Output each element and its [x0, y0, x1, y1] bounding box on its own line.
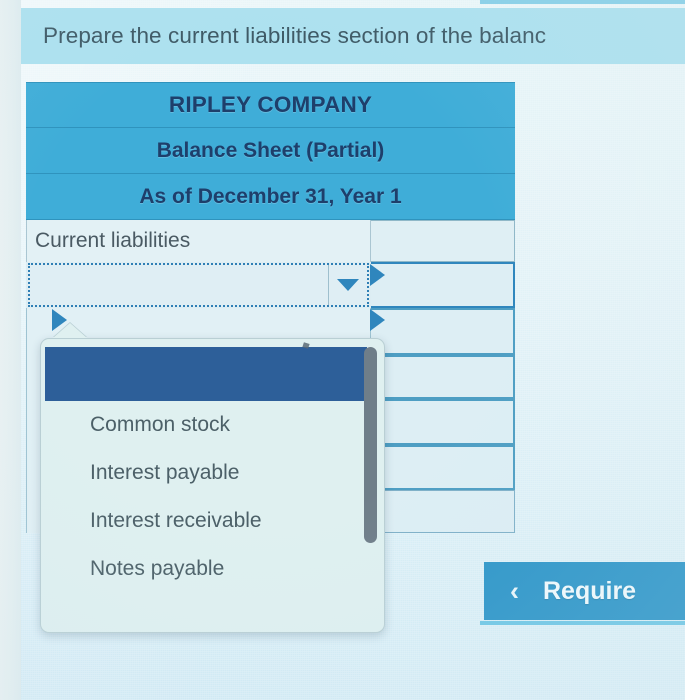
- amount-cell[interactable]: [371, 490, 515, 533]
- table-title-company-row: RIPLEY COMPANY: [26, 82, 515, 128]
- instruction-banner: Prepare the current liabilities section …: [21, 8, 685, 64]
- section-label-text: Current liabilities: [35, 229, 190, 253]
- dropdown-option-interest-receivable[interactable]: Interest receivable: [45, 497, 367, 545]
- amount-cell[interactable]: [371, 399, 515, 445]
- table-title-period-row: As of December 31, Year 1: [26, 174, 515, 220]
- dropdown-option-notes-payable[interactable]: Notes payable: [45, 545, 367, 593]
- dropdown-option-label: Interest payable: [90, 461, 239, 485]
- required-nav-button[interactable]: ‹ Require: [484, 562, 685, 620]
- table-row-account-select: [26, 262, 515, 308]
- bottom-accent-strip: [480, 621, 685, 625]
- dropdown-option-label: Interest receivable: [90, 509, 262, 533]
- dropdown-scrollbar[interactable]: [364, 347, 377, 619]
- dropdown-scrollbar-thumb[interactable]: [364, 347, 377, 543]
- instruction-text: Prepare the current liabilities section …: [43, 23, 546, 49]
- screen-left-bezel: [0, 0, 21, 700]
- amount-cell[interactable]: [371, 262, 515, 308]
- account-select-cell: [26, 262, 371, 308]
- table-row: Current liabilities: [26, 220, 515, 262]
- amount-cell[interactable]: [371, 355, 515, 399]
- amount-cell[interactable]: [371, 308, 515, 355]
- period-label: As of December 31, Year 1: [139, 185, 401, 209]
- dropdown-option-label: Common stock: [90, 413, 230, 437]
- row-selection-marker-icon: [370, 264, 385, 286]
- dropdown-option-interest-payable[interactable]: Interest payable: [45, 449, 367, 497]
- dropdown-option-common-stock[interactable]: Common stock: [45, 401, 367, 449]
- section-label-cell: Current liabilities: [26, 220, 371, 262]
- top-accent-strip: [480, 0, 685, 4]
- row-selection-marker-icon: [370, 309, 385, 331]
- chevron-left-icon: ‹: [510, 578, 519, 605]
- dropdown-option-label: Notes payable: [90, 557, 224, 581]
- statement-name: Balance Sheet (Partial): [157, 139, 385, 163]
- dropdown-option-blank[interactable]: [45, 347, 367, 401]
- dropdown-notch-icon: [53, 323, 87, 338]
- table-title-statement-row: Balance Sheet (Partial): [26, 128, 515, 174]
- amount-cell[interactable]: [371, 445, 515, 490]
- dropdown-option-list: Common stock Interest payable Interest r…: [45, 347, 367, 629]
- amount-cell[interactable]: [371, 220, 515, 262]
- chevron-down-icon[interactable]: [329, 279, 367, 291]
- account-select[interactable]: [28, 263, 369, 307]
- account-dropdown-menu: Common stock Interest payable Interest r…: [40, 338, 385, 633]
- account-select-value: [30, 265, 329, 305]
- company-name: RIPLEY COMPANY: [169, 92, 372, 118]
- required-nav-button-label: Require: [543, 577, 636, 606]
